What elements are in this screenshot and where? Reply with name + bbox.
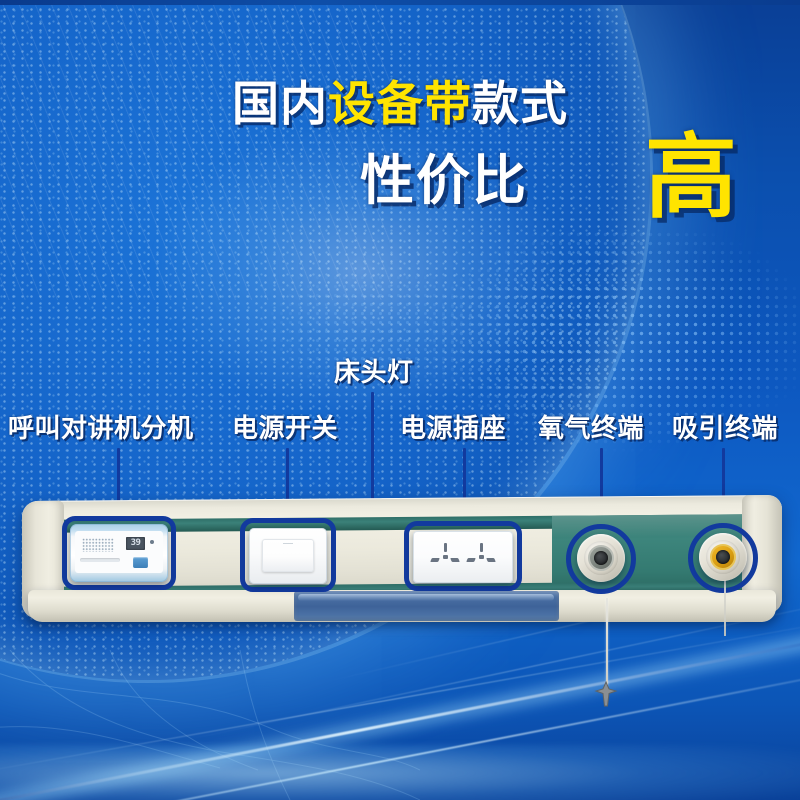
- bottom-glow: [0, 745, 800, 800]
- power-switch-unit[interactable]: [249, 528, 327, 584]
- socket-outlet-2[interactable]: [465, 543, 499, 571]
- headline-part-3: 款式: [472, 77, 568, 132]
- callout-label-power-socket: 电源插座: [400, 414, 506, 444]
- oxygen-terminal-unit[interactable]: [577, 534, 625, 582]
- callout-label-oxygen: 氧气终端: [538, 414, 644, 444]
- switch-brand-mark: [283, 543, 293, 544]
- nurse-call-intercom-unit[interactable]: 39: [70, 524, 168, 582]
- headline-line-2: 性价比 高: [0, 146, 800, 232]
- cord-plug-connector-icon: [591, 680, 621, 710]
- intercom-mic-slot: [80, 558, 120, 562]
- callout-label-suction: 吸引终端: [672, 414, 778, 444]
- suction-terminal-unit[interactable]: [699, 533, 747, 581]
- headline-emphasis-character: 高: [645, 128, 737, 228]
- headline-subtext: 性价比: [360, 150, 528, 212]
- headline-block: 国内设备带款式 性价比 高: [0, 78, 800, 232]
- bed-lamp-gloss: [298, 594, 554, 601]
- suction-terminal-port[interactable]: [716, 550, 730, 564]
- socket-outlet-1[interactable]: [429, 543, 463, 571]
- hanging-cord-secondary: [724, 578, 726, 636]
- callout-label-bed-lamp: 床头灯: [334, 358, 414, 388]
- headline-part-1: 国内: [232, 77, 328, 132]
- power-socket-unit[interactable]: [413, 531, 513, 583]
- callout-label-power-switch: 电源开关: [232, 414, 338, 444]
- intercom-call-button[interactable]: [133, 557, 148, 568]
- hanging-cord: [606, 598, 608, 686]
- top-edge-strip: [0, 0, 800, 5]
- intercom-led-indicator: [150, 540, 154, 544]
- oxygen-terminal-port[interactable]: [594, 551, 608, 565]
- product-image-canvas: 国内设备带款式 性价比 高 呼叫对讲机分机 电源开关 床头灯 电源插座 氧气终端…: [0, 0, 800, 800]
- callout-label-intercom: 呼叫对讲机分机: [8, 414, 194, 444]
- speaker-grille-icon: [82, 538, 114, 552]
- intercom-display: 39: [126, 537, 145, 550]
- headline-part-2-highlight: 设备带: [328, 77, 472, 132]
